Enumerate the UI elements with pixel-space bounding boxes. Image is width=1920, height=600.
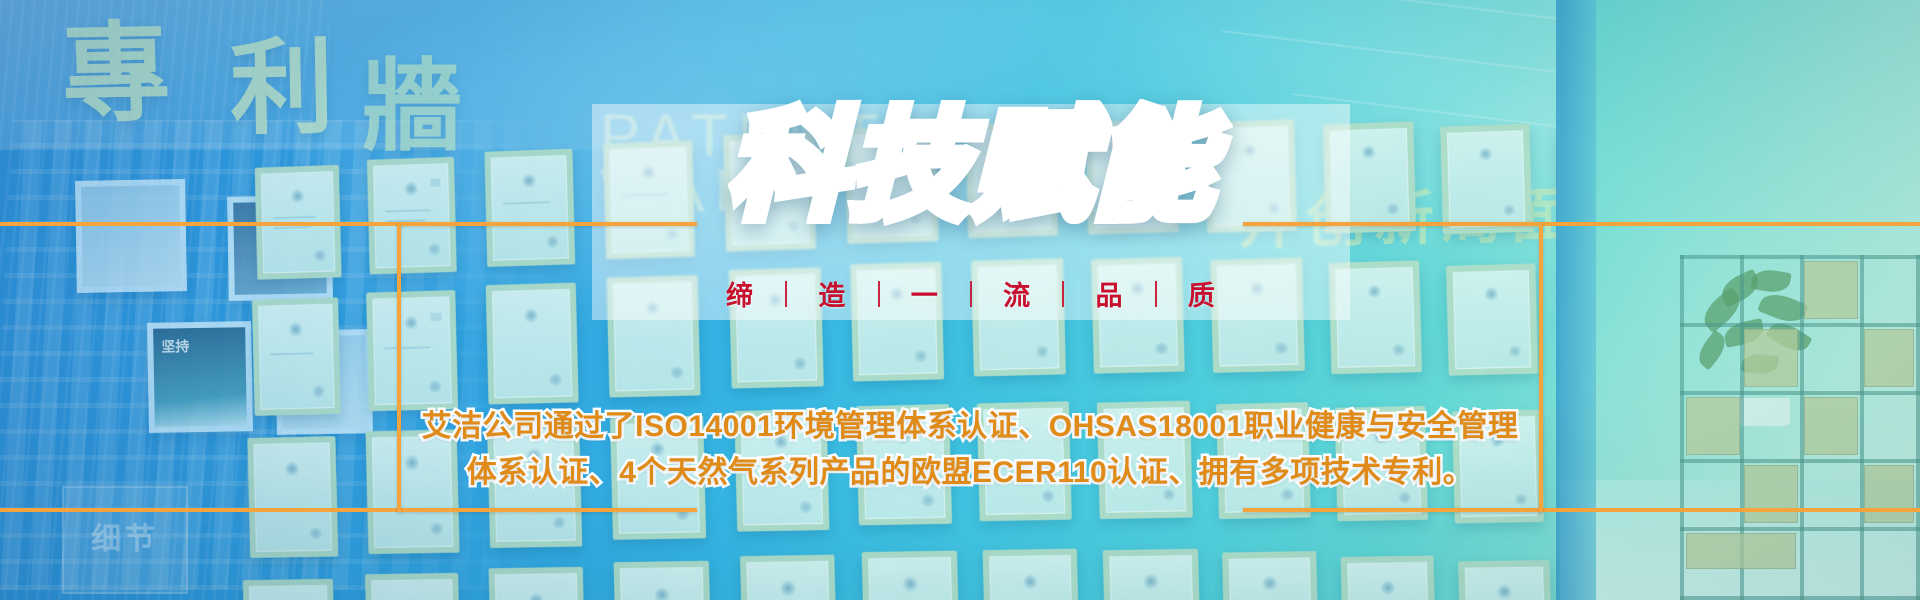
slogan-divider-4 (1062, 281, 1064, 307)
detail-placard-label: 细节 (64, 514, 186, 558)
slogan-divider-3 (970, 281, 972, 307)
slogan-char-2: 造 (818, 274, 846, 313)
certificate (1440, 124, 1532, 235)
frame-rule-top-right (1539, 222, 1920, 226)
certificate (1458, 560, 1553, 600)
slogan-divider-2 (878, 281, 880, 307)
certificate (243, 579, 336, 600)
certificate (983, 549, 1080, 600)
certificate (367, 157, 457, 275)
body-copy: 艾洁公司通过了ISO14001环境管理体系认证、OHSAS18001职业健康与安… (397, 404, 1543, 496)
wall-word-zhuan: 專 (60, 21, 172, 131)
certificate (247, 436, 338, 558)
certificate (1222, 551, 1319, 600)
certificate (484, 149, 575, 267)
certificate (252, 297, 341, 415)
slogan-char-3: 一 (911, 274, 939, 313)
certificate (1446, 263, 1538, 375)
slogan-char-1: 缔 (726, 274, 754, 313)
certificate (1341, 555, 1437, 600)
body-copy-line-2: 体系认证、4个天然气系列产品的欧盟ECER110认证、拥有多项技术专利。 (397, 450, 1543, 496)
frame-rule-bottom-right (1539, 508, 1920, 512)
certificate (740, 555, 837, 600)
certificate (366, 290, 458, 411)
frame-rule-top-left (0, 222, 401, 226)
patent-wall-banner: 專 利 牆 PATENT WALL 开创新局面 坚持 细节 (0, 0, 1920, 600)
certificate (489, 567, 586, 600)
certificate (614, 561, 712, 600)
certificate (365, 573, 461, 600)
slogan-divider-1 (785, 281, 787, 307)
certificate (486, 283, 579, 405)
detail-placard: 细节 (62, 486, 188, 594)
certificate (862, 551, 960, 600)
wall-word-li: 利 (229, 37, 335, 143)
certificate (1103, 549, 1201, 600)
wall-poster-jianchi: 坚持 (147, 321, 253, 433)
slogan-divider-5 (1155, 281, 1157, 307)
slogan-char-4: 流 (1003, 274, 1031, 313)
slogan-row: 缔 造 一 流 品 质 (726, 274, 1216, 313)
slogan-char-5: 品 (1096, 274, 1124, 313)
body-copy-line-1: 艾洁公司通过了ISO14001环境管理体系认证、OHSAS18001职业健康与安… (397, 404, 1543, 450)
shelving-unit (1680, 255, 1920, 600)
slogan-char-6: 质 (1188, 274, 1216, 313)
wall-photo-1 (75, 179, 187, 293)
frame-rule-bottom-left (0, 508, 401, 512)
poster-label: 坚持 (161, 336, 189, 356)
page-title: 科技赋能 (728, 104, 1216, 231)
